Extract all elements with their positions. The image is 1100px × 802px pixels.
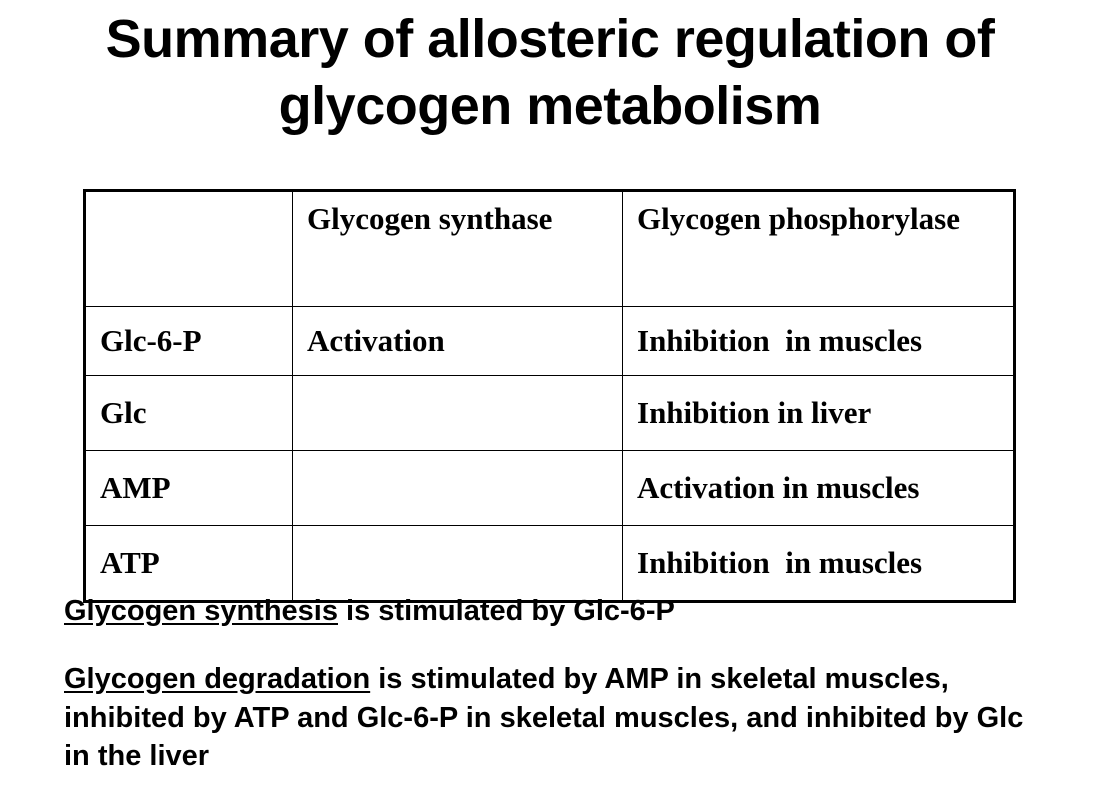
note-glycogen-degradation: Glycogen degradation is stimulated by AM… [64,660,1054,776]
cell-glycogen-phosphorylase: Inhibition in muscles [623,307,1015,376]
note-synthesis-emphasis: Glycogen synthesis [64,595,338,627]
cell-glycogen-phosphorylase: Inhibition in muscles [623,526,1015,602]
cell-effector: Glc-6-P [85,307,293,376]
note-glycogen-synthesis: Glycogen synthesis is stimulated by Glc-… [64,592,1054,631]
page-title: Summary of allosteric regulation of glyc… [40,6,1060,140]
cell-glycogen-phosphorylase: Inhibition in liver [623,376,1015,451]
cell-effector: Glc [85,376,293,451]
table-row: Glc-6-P Activation Inhibition in muscles [85,307,1015,376]
note-degradation-emphasis: Glycogen degradation [64,663,370,695]
note-synthesis-text: is stimulated by Glc-6-P [338,595,675,627]
column-header-glycogen-synthase: Glycogen synthase [293,191,623,307]
cell-effector: AMP [85,451,293,526]
cell-glycogen-synthase: Activation [293,307,623,376]
column-header-glycogen-phosphorylase: Glycogen phosphorylase [623,191,1015,307]
cell-glycogen-synthase [293,376,623,451]
table-row: Glc Inhibition in liver [85,376,1015,451]
allosteric-regulation-table: Glycogen synthase Glycogen phosphorylase… [83,189,1016,603]
cell-glycogen-synthase [293,451,623,526]
table-row: ATP Inhibition in muscles [85,526,1015,602]
cell-glycogen-phosphorylase: Activation in muscles [623,451,1015,526]
cell-glycogen-synthase [293,526,623,602]
table-header-row: Glycogen synthase Glycogen phosphorylase [85,191,1015,307]
cell-effector: ATP [85,526,293,602]
table-row: AMP Activation in muscles [85,451,1015,526]
column-header-effector [85,191,293,307]
